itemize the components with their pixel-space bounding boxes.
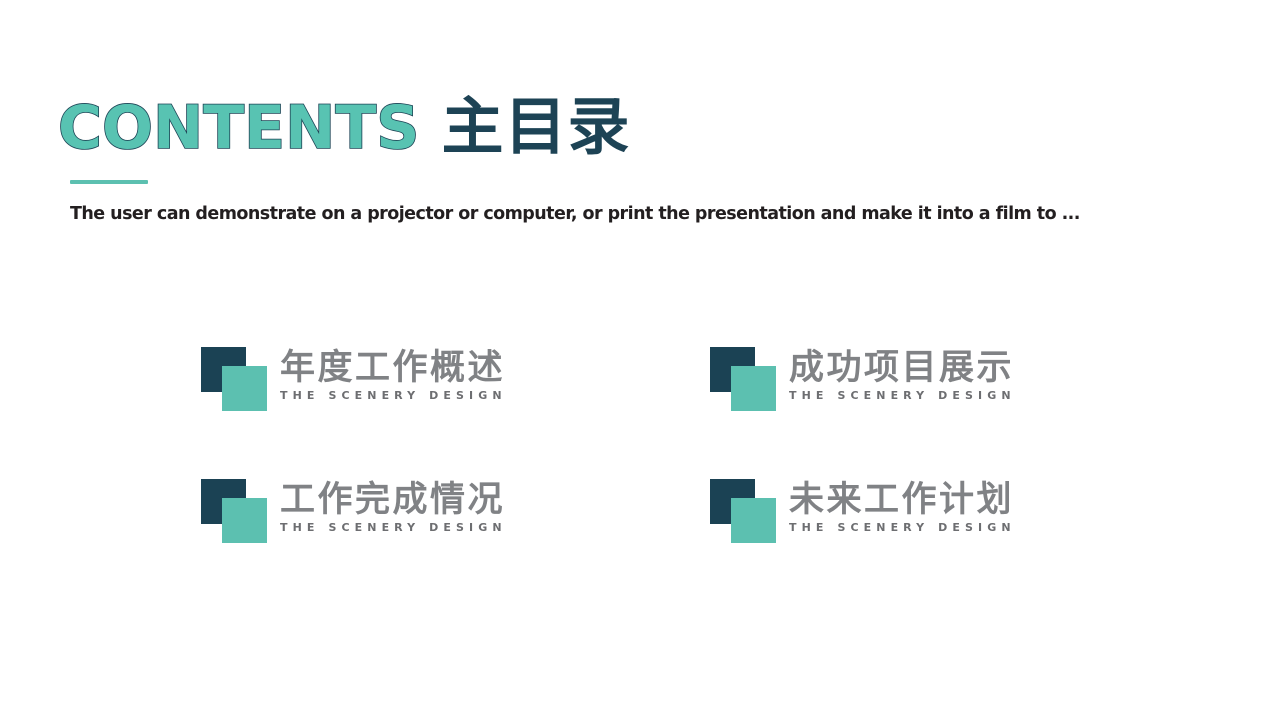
contents-grid: 年度工作概述 THE SCENERY DESIGN 成功项目展示 THE SCE… (201, 347, 1201, 611)
content-item-3[interactable]: 工作完成情况 THE SCENERY DESIGN (201, 479, 710, 611)
square-marker-icon (710, 347, 778, 411)
content-item-text: 年度工作概述 THE SCENERY DESIGN (280, 347, 507, 402)
content-item-subtitle: THE SCENERY DESIGN (280, 389, 507, 402)
content-item-2[interactable]: 成功项目展示 THE SCENERY DESIGN (710, 347, 1219, 479)
content-item-subtitle: THE SCENERY DESIGN (789, 521, 1016, 534)
content-item-1[interactable]: 年度工作概述 THE SCENERY DESIGN (201, 347, 710, 479)
content-item-title: 工作完成情况 (280, 482, 507, 518)
square-marker-icon (201, 479, 269, 543)
content-item-title: 未来工作计划 (789, 482, 1016, 518)
square-teal-icon (222, 366, 267, 411)
content-item-subtitle: THE SCENERY DESIGN (789, 389, 1016, 402)
accent-underline (70, 180, 148, 184)
title-english: CONTENTS (58, 98, 420, 158)
content-item-title: 成功项目展示 (789, 350, 1016, 386)
square-teal-icon (731, 498, 776, 543)
slide-subtitle: The user can demonstrate on a projector … (70, 204, 1080, 224)
title-row: CONTENTS 主目录 (58, 96, 1218, 172)
square-teal-icon (222, 498, 267, 543)
square-teal-icon (731, 366, 776, 411)
square-marker-icon (710, 479, 778, 543)
square-marker-icon (201, 347, 269, 411)
content-item-title: 年度工作概述 (280, 350, 507, 386)
content-item-4[interactable]: 未来工作计划 THE SCENERY DESIGN (710, 479, 1219, 611)
content-item-subtitle: THE SCENERY DESIGN (280, 521, 507, 534)
content-item-text: 工作完成情况 THE SCENERY DESIGN (280, 479, 507, 534)
content-item-text: 未来工作计划 THE SCENERY DESIGN (789, 479, 1016, 534)
content-item-text: 成功项目展示 THE SCENERY DESIGN (789, 347, 1016, 402)
title-chinese: 主目录 (442, 96, 631, 158)
slide-header: CONTENTS 主目录 The user can demonstrate on… (58, 96, 1218, 172)
